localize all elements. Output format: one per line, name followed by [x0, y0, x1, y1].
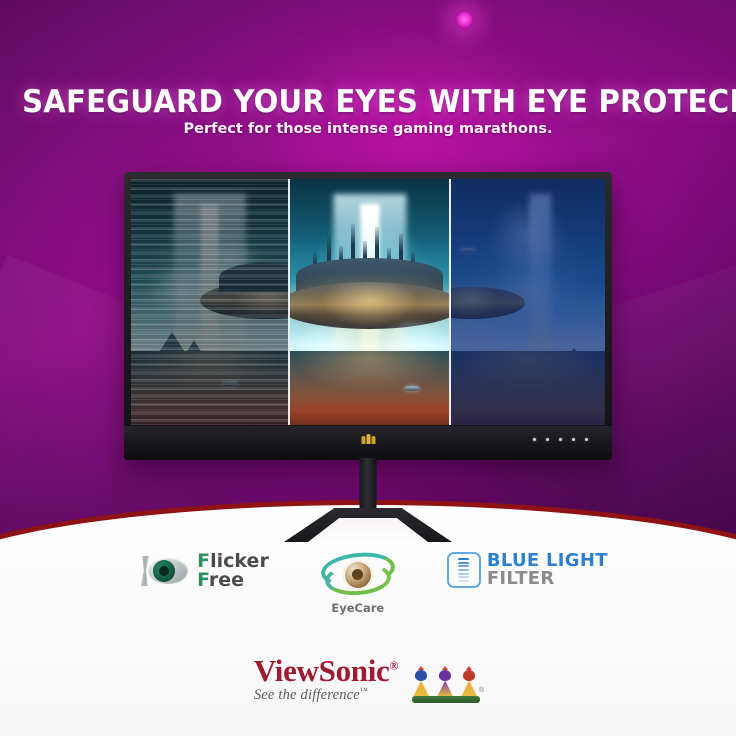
monitor-chassis: FLICKER EYE-CARE TECHNOLOGY BLUE-LIGHT [124, 172, 612, 460]
screen-panel-flicker [131, 179, 288, 425]
flicker-dim-overlay [131, 179, 288, 425]
eyecare-label: EyeCare [331, 601, 384, 615]
blue-light-tint-overlay [451, 179, 605, 425]
flicker-free-label-line2: Free [197, 571, 269, 590]
monitor-screen [131, 179, 605, 425]
brand-tagline: See the difference™ [254, 686, 398, 704]
blue-light-filter-icon [447, 552, 481, 588]
badge-blue-light-filter: BLUE LIGHT FILTER [447, 552, 608, 588]
page-title: SAFEGUARD YOUR EYES WITH EYE PROTECH [22, 84, 714, 120]
monitor-control-buttons[interactable] [533, 438, 588, 441]
screen-panel-eyecare [288, 179, 449, 425]
flicker-free-eye-icon [128, 552, 190, 590]
registered-mark: ® [389, 659, 398, 673]
finch-bird-1 [412, 666, 430, 697]
monitor-button-2[interactable] [546, 438, 549, 441]
finch-perch [412, 696, 480, 703]
badge-eyecare: EyeCare [319, 552, 397, 615]
monitor-power-button[interactable] [585, 438, 588, 441]
trademark-mark: ™ [360, 686, 368, 695]
bezel-viewsonic-bird-icon [360, 433, 377, 444]
finch-bird-2 [436, 666, 454, 697]
monitor-product-image: FLICKER EYE-CARE TECHNOLOGY BLUE-LIGHT [124, 172, 612, 460]
badge-flicker-free: FFlickerlicker Free [128, 552, 269, 590]
monitor-bottom-bezel [124, 426, 612, 460]
finch-bird-3 [460, 666, 478, 697]
feature-badge-row: FFlickerlicker Free EyeCare [0, 552, 736, 632]
page-subtitle: Perfect for those intense gaming maratho… [0, 121, 736, 137]
mascot-registered-mark: ® [479, 687, 484, 694]
advertisement-canvas: SAFEGUARD YOUR EYES WITH EYE PROTECH Per… [0, 0, 736, 736]
glow-dot-decoration [455, 10, 474, 29]
screen-panel-bluelight [449, 179, 605, 425]
viewsonic-finch-mascot-icon: ® [410, 657, 482, 703]
eyecare-eye-icon [319, 552, 397, 598]
monitor-button-3[interactable] [559, 438, 562, 441]
monitor-button-4[interactable] [572, 438, 575, 441]
brand-name: ViewSonic® [254, 655, 398, 686]
monitor-button-1[interactable] [533, 438, 536, 441]
scene-art-eyecare [290, 179, 449, 425]
monitor-stand-neck [360, 458, 377, 516]
viewsonic-logo-block: ViewSonic® See the difference™ ® [0, 655, 736, 704]
blue-light-label-line2: FILTER [487, 570, 608, 588]
